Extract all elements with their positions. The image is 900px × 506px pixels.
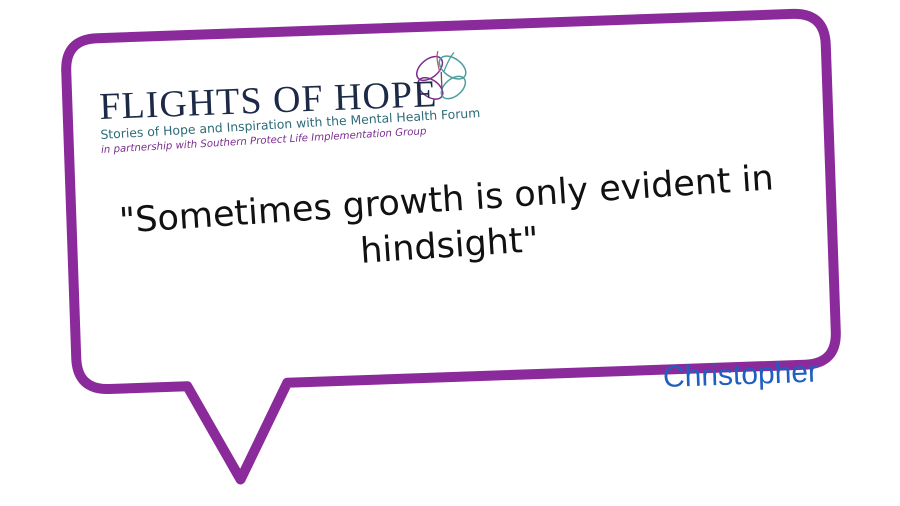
- quote-attribution: Christopher: [662, 356, 818, 395]
- slide-canvas: FLIGHTS OF HOPE Stories of Hope and Insp…: [0, 0, 900, 506]
- flights-of-hope-logo: FLIGHTS OF HOPE Stories of Hope and Insp…: [99, 73, 501, 157]
- quote-text: "Sometimes growth is only evident in hin…: [116, 156, 781, 291]
